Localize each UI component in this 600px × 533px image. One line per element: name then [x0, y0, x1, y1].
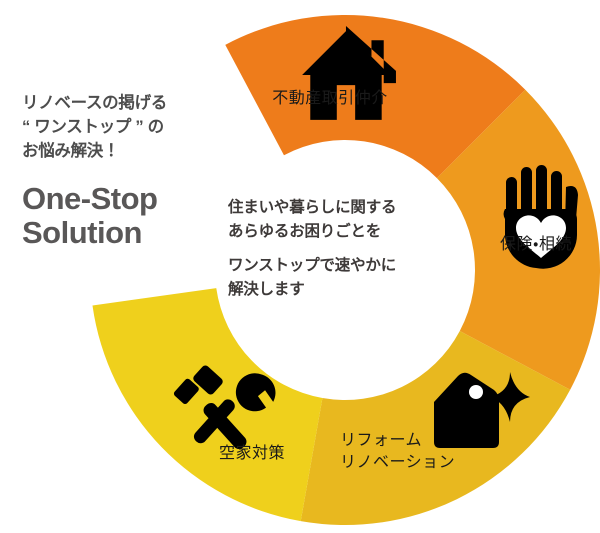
segment-label-reform-line-1: リフォーム	[340, 430, 455, 452]
segment-label-insurance: 保険・相続	[500, 234, 572, 256]
center-para1-line2: あらゆるお困りごとを	[228, 220, 458, 244]
page-title-line-1: One-Stop	[22, 182, 227, 217]
center-para2-line2: 解決します	[228, 278, 458, 302]
segment-label-reform: リフォーム リノベーション	[340, 430, 455, 473]
center-description: 住まいや暮らしに関する あらゆるお困りごとを ワンストップで速やかに 解決します	[228, 196, 458, 303]
lead-line-1: リノベースの掲げる	[22, 92, 227, 116]
segment-label-reform-line-2: リノベーション	[340, 452, 455, 474]
one-stop-solution-diagram: リノベースの掲げる “ ワンストップ ” の お悩み解決！ One-Stop S…	[0, 0, 600, 533]
donut-segment-vacant-house[interactable]	[92, 288, 322, 521]
page-title-line-2: Solution	[22, 216, 227, 251]
lead-line-2: “ ワンストップ ” の	[22, 116, 227, 140]
segment-label-vacant-house: 空家対策	[219, 443, 285, 465]
page-title: One-Stop Solution	[22, 182, 227, 251]
center-para1-line1: 住まいや暮らしに関する	[228, 196, 458, 220]
center-para2-line1: ワンストップで速やかに	[228, 254, 458, 278]
headline-block: リノベースの掲げる “ ワンストップ ” の お悩み解決！ One-Stop S…	[22, 92, 227, 251]
paragraph-gap	[228, 245, 458, 254]
lead-line-3: お悩み解決！	[22, 140, 227, 164]
segment-label-real-estate: 不動産取引仲介	[272, 88, 388, 110]
